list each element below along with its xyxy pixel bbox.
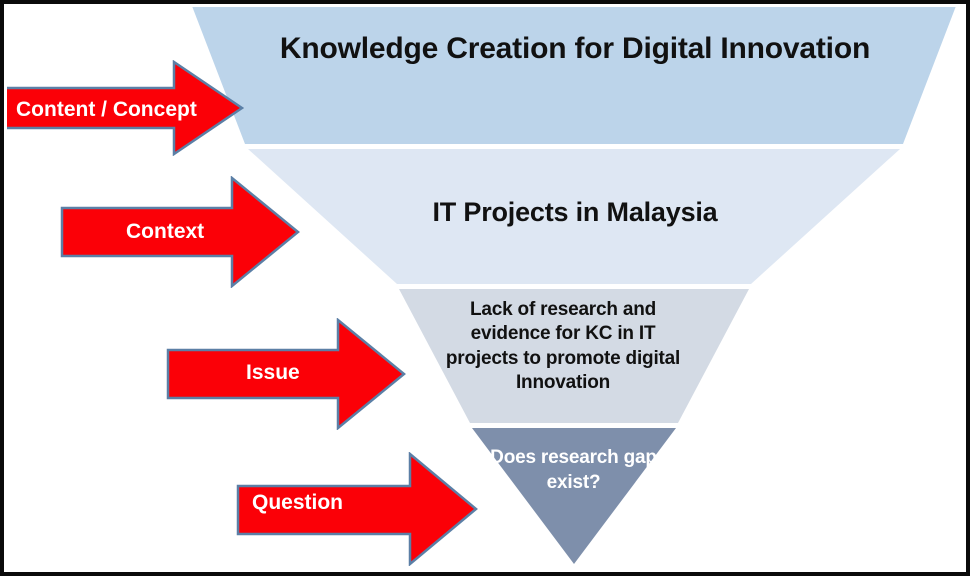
arrow-issue-label: Issue bbox=[246, 361, 300, 385]
funnel-tier-4-label: Does research gap exist? bbox=[466, 446, 681, 495]
arrow-context-label: Context bbox=[126, 220, 204, 244]
funnel-tier-3-label: Lack of research and evidence for KC in … bbox=[438, 298, 688, 395]
funnel-tier-1-shape bbox=[192, 6, 956, 144]
funnel-tier-2-label: IT Projects in Malaysia bbox=[290, 197, 860, 227]
diagram-canvas: Knowledge Creation for Digital Innovatio… bbox=[0, 0, 970, 576]
arrow-question-label: Question bbox=[252, 491, 343, 515]
funnel-tier-1-label: Knowledge Creation for Digital Innovatio… bbox=[245, 32, 905, 66]
arrow-content-concept-label: Content / Concept bbox=[16, 98, 197, 122]
